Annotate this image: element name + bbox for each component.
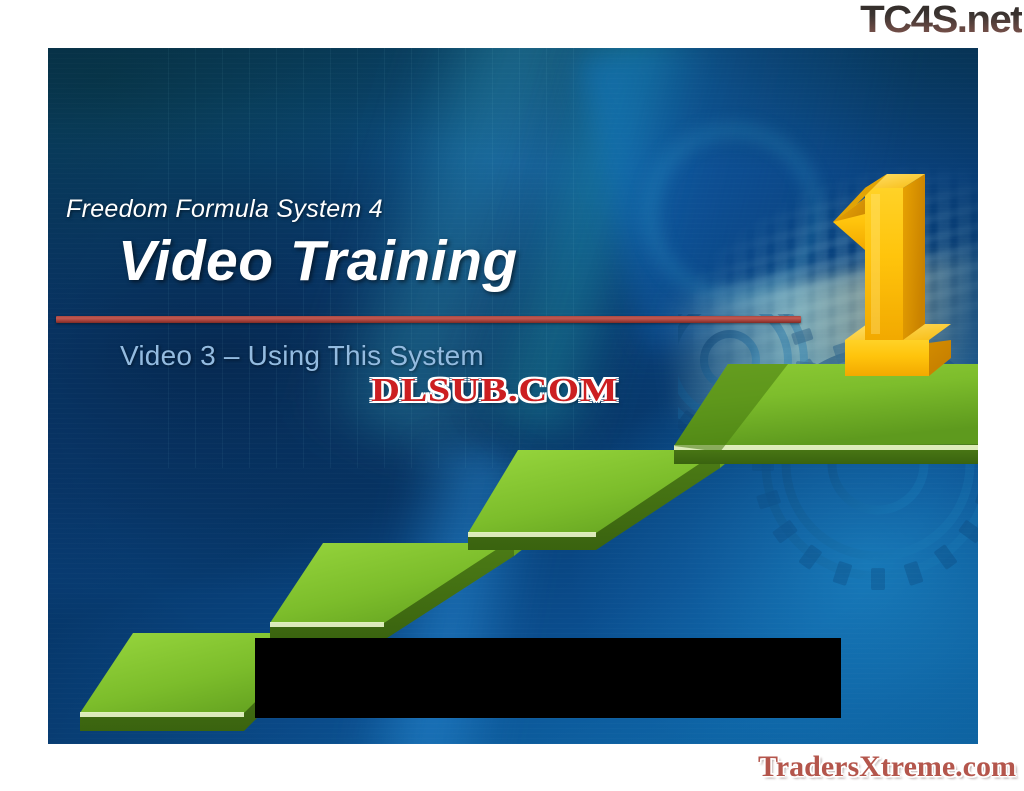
tradersxtreme-com-logo: TradersXtreme.com — [700, 748, 1016, 786]
dlsub-watermark: DLSUB.COM — [371, 372, 618, 410]
slide-eyebrow: Freedom Formula System 4 — [66, 195, 383, 224]
presentation-slide: Freedom Formula System 4 Video Training … — [48, 48, 978, 744]
slide-title: Video Training — [118, 228, 518, 294]
tc4s-net-logo: TC4S.net — [814, 0, 1022, 42]
slide-subtitle: Video 3 – Using This System — [120, 340, 484, 372]
title-divider — [56, 316, 801, 323]
black-redaction-bar — [255, 638, 841, 718]
screenshot-canvas: TC4S.net — [0, 0, 1024, 791]
